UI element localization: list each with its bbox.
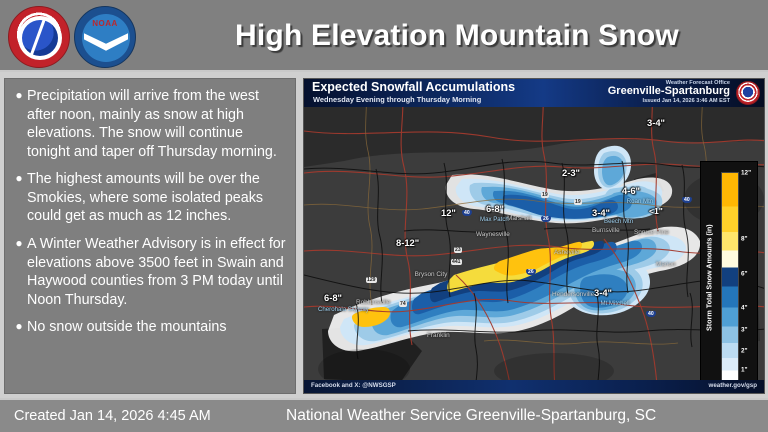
social-handle: Facebook and X: @NWSGSP	[311, 382, 396, 389]
landmark-label: Mt Mitchell	[600, 301, 630, 308]
bullet-text: No snow outside the mountains	[27, 318, 287, 337]
city-label: Bryson City	[414, 271, 448, 278]
city-label: Hendersonville	[552, 291, 594, 298]
bullet-dot-icon: ●	[11, 318, 27, 337]
road-shield: 26	[526, 269, 536, 275]
city-label: Spruce Pine	[634, 229, 668, 236]
bullet-text: Precipitation will arrive from the west …	[27, 87, 287, 161]
snowfall-map-panel: Expected Snowfall Accumulations Wednesda…	[303, 78, 765, 394]
colorbar-tick: 6"	[741, 271, 748, 278]
forecast-office-block: Weather Forecast Office Greenville-Spart…	[608, 80, 730, 104]
page-footer: Created Jan 14, 2026 4:45 AM National We…	[0, 398, 768, 432]
road-shield: 441	[451, 259, 462, 265]
map-title: Expected Snowfall Accumulations	[312, 80, 515, 94]
issued-timestamp: Issued Jan 14, 2026 3:46 AM EST	[608, 98, 730, 104]
colorbar-tick: 12"	[741, 170, 751, 177]
website-url: weather.gov/gsp	[709, 382, 757, 389]
amount-label: 3-4"	[594, 287, 612, 298]
colorbar-tick: 8"	[741, 236, 748, 243]
snow-amount-colorbar: Storm Total Snow Amounts (in) 12" 8" 6" …	[700, 161, 758, 393]
amount-label: 6-8"	[486, 203, 504, 214]
amount-label: 4-6"	[622, 185, 640, 196]
bullet-dot-icon: ●	[11, 170, 27, 226]
landmark-label: Beech Mtn	[604, 219, 632, 226]
amount-label: 3-4"	[647, 117, 665, 128]
landmark-label: Cherohala Skyway	[318, 307, 362, 314]
colorbar-axis-label: Storm Total Snow Amounts (in)	[703, 190, 715, 365]
city-label: Robbinsville	[356, 299, 390, 306]
road-shield: 40	[682, 197, 692, 203]
noaa-logo-text: NOAA	[75, 19, 135, 28]
bullet-item: ● The highest amounts will be over the S…	[11, 170, 287, 226]
wfo-name: Greenville-Spartanburg	[608, 86, 730, 98]
amount-label: 3-4"	[592, 207, 610, 218]
colorbar-tick: 2"	[741, 348, 748, 355]
amount-label: 2-3"	[562, 167, 580, 178]
city-label: Franklin	[427, 332, 450, 339]
colorbar-tick: 1"	[741, 367, 748, 374]
road-shield: 19	[541, 192, 549, 198]
noaa-seal-icon: NOAA	[74, 6, 136, 68]
bullet-text: The highest amounts will be over the Smo…	[27, 170, 287, 226]
colorbar-tick: 4"	[741, 305, 748, 312]
city-label: Waynesville	[476, 231, 510, 238]
key-points-panel: ● Precipitation will arrive from the wes…	[4, 78, 296, 394]
colorbar-tick: 3"	[741, 327, 748, 334]
bullet-item: ● No snow outside the mountains	[11, 318, 287, 337]
map-canvas	[304, 79, 765, 394]
map-header-banner: Expected Snowfall Accumulations Wednesda…	[304, 79, 764, 107]
bullet-text: A Winter Weather Advisory is in effect f…	[27, 235, 287, 309]
nws-seal-icon	[736, 81, 760, 105]
bullet-dot-icon: ●	[11, 235, 27, 309]
city-label: Marion	[656, 261, 676, 268]
colorbar-gradient	[721, 172, 739, 384]
map-subtitle: Wednesday Evening through Thursday Morni…	[313, 95, 481, 104]
agency-logos: NOAA	[4, 6, 138, 68]
issuing-office: National Weather Service Greenville-Spar…	[286, 407, 656, 425]
bullet-dot-icon: ●	[11, 87, 27, 161]
created-timestamp: Created Jan 14, 2026 4:45 AM	[14, 408, 211, 424]
road-shield: 129	[366, 277, 377, 283]
road-shield: 40	[646, 311, 656, 317]
amount-label: 6-8"	[324, 292, 342, 303]
road-shield: 74	[399, 301, 407, 307]
page-title: High Elevation Mountain Snow	[150, 0, 764, 72]
road-shield: 40	[462, 210, 472, 216]
city-label: Marshall	[507, 215, 531, 222]
page-header: NOAA High Elevation Mountain Snow	[0, 0, 768, 72]
landmark-label: Roan Mtn	[626, 199, 654, 206]
road-shield: 23	[454, 247, 462, 253]
amount-label: <1"	[649, 206, 663, 216]
road-shield: 19	[574, 199, 582, 205]
city-label: Burnsville	[592, 227, 620, 234]
amount-label: 8-12"	[396, 237, 419, 248]
landmark-label: Max Patch	[480, 217, 508, 224]
map-footer-banner: Facebook and X: @NWSGSP weather.gov/gsp	[304, 380, 764, 393]
road-shield: 26	[541, 216, 551, 222]
city-label: Asheville	[554, 249, 580, 256]
national-weather-service-seal-icon	[8, 6, 70, 68]
bullet-item: ● A Winter Weather Advisory is in effect…	[11, 235, 287, 309]
bullet-item: ● Precipitation will arrive from the wes…	[11, 87, 287, 161]
amount-label: 12"	[441, 207, 456, 218]
